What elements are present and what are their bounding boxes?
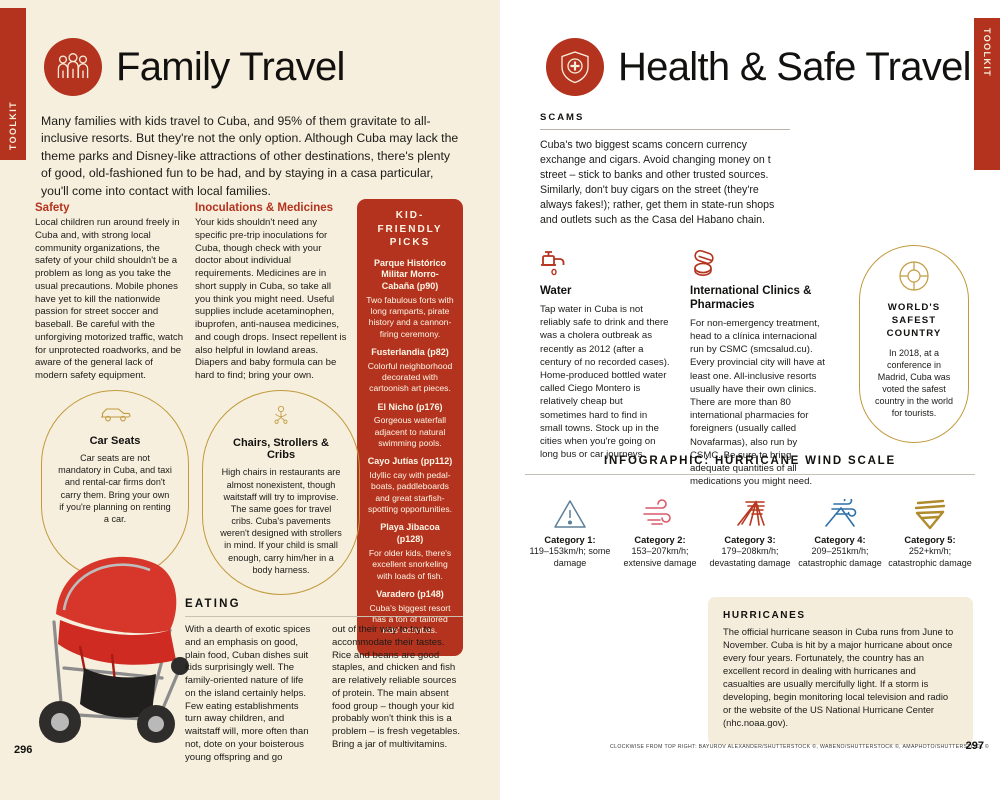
page-title: Family Travel	[116, 45, 345, 90]
worlds-safest-country-badge: WORLD'S SAFEST COUNTRY In 2018, at a con…	[859, 245, 969, 443]
eating-column-1: With a dearth of exotic spices and an em…	[185, 624, 316, 764]
clinics-heading: International Clinics & Pharmacies	[690, 285, 830, 313]
toolkit-tab-left-label: TOOLKIT	[8, 101, 18, 150]
picks-list: Parque Histórico Militar Morro-Cabaña (p…	[366, 258, 454, 637]
picks-title: KID-FRIENDLY PICKS	[366, 209, 454, 250]
car-icon	[99, 405, 131, 423]
callout-body: High chairs in restaurants are almost no…	[219, 466, 343, 576]
water-section: Water Tap water in Cuba is not reliably …	[540, 250, 670, 462]
family-group-icon	[44, 38, 102, 96]
water-body: Tap water in Cuba is not reliably safe t…	[540, 303, 670, 462]
clinics-section: International Clinics & Pharmacies For n…	[690, 250, 830, 489]
category-item: Category 5: 252+km/h; catastrophic damag…	[885, 493, 975, 569]
badge-body: In 2018, at a conference in Madrid, Cuba…	[872, 347, 956, 419]
safety-heading: Safety	[35, 202, 185, 214]
medical-shield-icon	[546, 38, 604, 96]
pick-item: Cayo Jutías (pp112) Idyllic cay with ped…	[366, 456, 454, 515]
toolkit-tab-right: TOOLKIT	[974, 18, 1000, 170]
divider	[185, 616, 463, 617]
lifebuoy-icon	[898, 260, 930, 292]
scams-kicker: SCAMS	[540, 112, 790, 123]
eating-section: EATING With a dearth of exotic spices an…	[185, 598, 463, 764]
divider	[525, 474, 975, 475]
pick-item: Fusterlandia (p82) Colorful neighborhood…	[366, 347, 454, 395]
infographic-categories: Category 1: 119–153km/h; some damage Cat…	[525, 493, 975, 569]
eating-column-2: out of their way to try to accommodate t…	[332, 624, 463, 764]
page-number-right: 297	[966, 740, 984, 752]
strong-wind-icon	[795, 493, 885, 535]
divider	[540, 129, 790, 130]
red-baby-stroller-photo	[30, 518, 200, 748]
toolkit-tab-left: TOOLKIT	[0, 8, 26, 160]
warning-triangle-icon	[525, 493, 615, 535]
kid-friendly-picks-box: KID-FRIENDLY PICKS Parque Histórico Mili…	[357, 199, 463, 656]
tornado-icon	[705, 493, 795, 535]
book-spread: TOOLKIT Family Travel Many families with…	[0, 0, 1000, 800]
inoculations-body: Your kids shouldn't need any specific pr…	[195, 217, 347, 383]
inoculations-section: Inoculations & Medicines Your kids shoul…	[195, 202, 347, 383]
wind-lines-icon	[615, 493, 705, 535]
intro-paragraph: Many families with kids travel to Cuba, …	[41, 113, 459, 200]
infographic-title: INFOGRAPHIC: HURRICANE WIND SCALE	[525, 455, 975, 467]
category-item: Category 4: 209–251km/h; catastrophic da…	[795, 493, 885, 569]
safety-section: Safety Local children run around freely …	[35, 202, 185, 383]
right-page: TOOLKIT Health & Safe Travel SCAMS Cuba'…	[500, 0, 1000, 800]
category-item: Category 2: 153–207km/h; extensive damag…	[615, 493, 705, 569]
page-number-left: 296	[14, 744, 32, 756]
hurricanes-info-box: HURRICANES The official hurricane season…	[708, 597, 973, 745]
category-item: Category 3: 179–208km/h; devastating dam…	[705, 493, 795, 569]
hurricanes-body: The official hurricane season in Cuba ru…	[723, 626, 958, 730]
category-item: Category 1: 119–153km/h; some damage	[525, 493, 615, 569]
left-page: TOOLKIT Family Travel Many families with…	[0, 0, 500, 800]
photo-credits: CLOCKWISE FROM TOP RIGHT: BAYUROV ALEXAN…	[610, 744, 989, 750]
page-title: Health & Safe Travel	[618, 45, 971, 90]
hurricane-funnel-icon	[885, 493, 975, 535]
baby-icon	[268, 405, 294, 425]
family-travel-header: Family Travel	[44, 38, 345, 96]
badge-title: WORLD'S SAFEST COUNTRY	[872, 302, 956, 341]
toolkit-tab-right-label: TOOLKIT	[982, 28, 992, 77]
eating-title: EATING	[185, 598, 463, 610]
callout-title: Chairs, Strollers & Cribs	[219, 437, 343, 461]
safety-body: Local children run around freely in Cuba…	[35, 217, 185, 383]
pick-item: Playa Jibacoa (p128) For older kids, the…	[366, 522, 454, 581]
hurricanes-title: HURRICANES	[723, 610, 958, 621]
health-safe-travel-header: Health & Safe Travel	[546, 38, 971, 96]
water-heading: Water	[540, 285, 670, 299]
pick-item: Parque Histórico Militar Morro-Cabaña (p…	[366, 258, 454, 340]
callout-chairs-strollers-cribs: Chairs, Strollers & Cribs High chairs in…	[202, 390, 360, 595]
pills-icon	[690, 250, 720, 276]
scams-body: Cuba's two biggest scams concern currenc…	[540, 138, 790, 228]
hurricane-infographic: INFOGRAPHIC: HURRICANE WIND SCALE Catego…	[525, 455, 975, 569]
callout-body: Car seats are not mandatory in Cuba, and…	[58, 452, 172, 525]
faucet-icon	[540, 250, 568, 276]
scams-section: SCAMS Cuba's two biggest scams concern c…	[540, 112, 790, 228]
callout-title: Car Seats	[90, 435, 141, 447]
inoculations-heading: Inoculations & Medicines	[195, 202, 347, 214]
pick-item: El Nicho (p176) Gorgeous waterfall adjac…	[366, 402, 454, 450]
